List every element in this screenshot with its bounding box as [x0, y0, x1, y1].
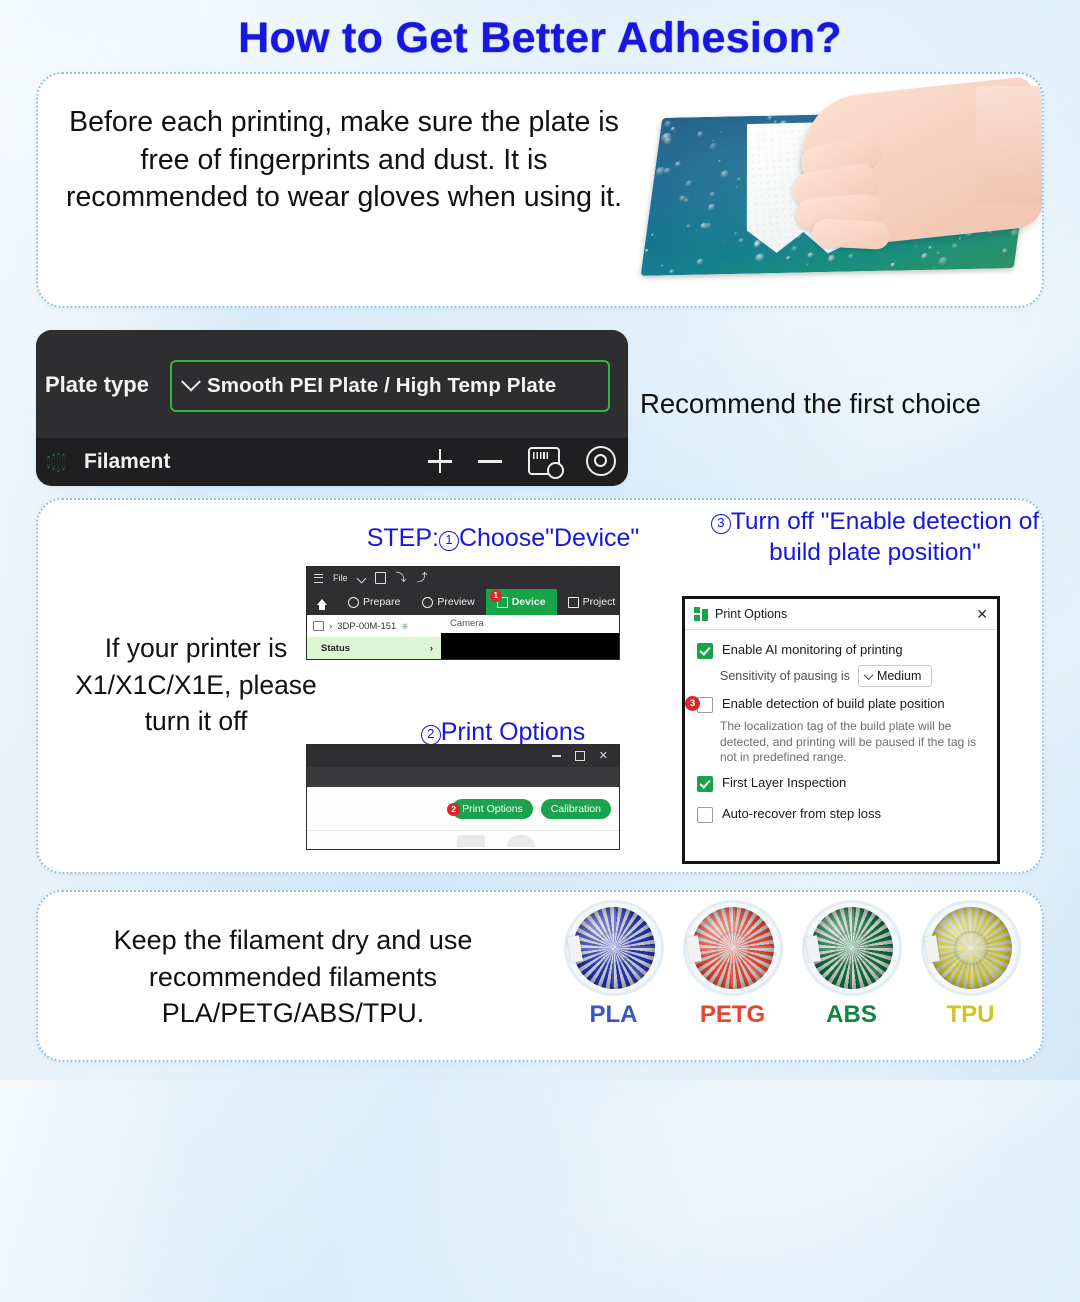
step-badge-2: 2 [447, 803, 460, 816]
printer-icon [313, 621, 324, 631]
water-droplet [774, 120, 778, 123]
panel-plate-type-ui: Plate type Smooth PEI Plate / High Temp … [36, 330, 628, 486]
water-droplet [937, 251, 941, 254]
water-droplet [720, 131, 723, 133]
option-label: Enable detection of build plate position [722, 696, 945, 712]
water-droplet [655, 167, 667, 177]
app-logo-icon [694, 607, 708, 621]
water-droplet [720, 170, 731, 179]
step2-heading: 2Print Options [338, 718, 668, 747]
step3-text: Turn off "Enable detection of build plat… [731, 508, 1039, 566]
step1-heading: STEP:1Choose"Device" [338, 524, 668, 553]
tab-prepare[interactable]: Prepare [337, 589, 411, 615]
water-droplet [754, 242, 762, 249]
preview-icon [422, 597, 433, 608]
spool-name: ABS [800, 1001, 904, 1029]
checkbox-checked-icon[interactable] [697, 776, 713, 792]
step1-text: Choose"Device" [459, 524, 639, 552]
print-options-buttons-screenshot: ✕ 2 Print Options Calibration [306, 744, 620, 850]
step2-number: 2 [421, 725, 441, 745]
plate-type-select[interactable]: Smooth PEI Plate / High Temp Plate [170, 360, 610, 412]
water-droplet [806, 263, 809, 266]
water-droplet [928, 246, 933, 250]
minimize-icon[interactable] [552, 755, 561, 756]
water-droplet [767, 116, 773, 121]
water-droplet [709, 192, 716, 198]
wifi-icon: ⎈ [401, 621, 408, 632]
water-droplet [685, 180, 694, 187]
checkbox-checked-icon[interactable] [697, 643, 713, 659]
spool-hub [597, 931, 631, 965]
plate-cleaning-photo [616, 84, 1036, 296]
filament-spool: TPU [919, 900, 1023, 1029]
water-droplet [669, 269, 676, 275]
remove-icon[interactable] [478, 449, 502, 473]
tab-project[interactable]: Project [557, 589, 620, 615]
sensitivity-value: Medium [877, 669, 921, 683]
dialog-title: Print Options [715, 607, 976, 621]
water-droplet [645, 249, 649, 252]
water-droplet [736, 177, 742, 182]
device-panel-body: › 3DP-00M-151 ⎈ Status › Camera [307, 615, 619, 659]
water-droplet [724, 241, 727, 244]
step1-prefix: STEP: [367, 524, 439, 552]
spool-name: PLA [562, 1001, 666, 1029]
step-badge-3: 3 [685, 696, 700, 711]
camera-feed [441, 633, 619, 659]
add-icon[interactable] [428, 449, 452, 473]
calibration-button[interactable]: Calibration [541, 799, 611, 819]
camera-label: Camera [441, 615, 619, 633]
water-droplet [738, 238, 745, 244]
chevron-down-icon [181, 372, 201, 392]
spool-hub [835, 931, 869, 965]
action-buttons: 2 Print Options Calibration [447, 799, 611, 819]
menu-icon[interactable] [314, 574, 323, 583]
project-icon [568, 597, 579, 608]
water-droplet [1001, 248, 1008, 254]
print-options-dialog: Print Options ✕ Enable AI monitoring of … [682, 596, 1000, 864]
chevron-right: › [329, 621, 332, 632]
option-label: Enable AI monitoring of printing [722, 642, 903, 658]
water-droplet [735, 186, 739, 189]
undo-icon[interactable]: ⤵ [396, 573, 407, 584]
sidebar-item-status[interactable]: Status › [307, 637, 441, 659]
save-icon[interactable] [375, 572, 386, 584]
water-droplet [696, 259, 705, 266]
option-auto-recover[interactable]: Auto-recover from step loss [697, 806, 987, 823]
spool-image [921, 900, 1021, 996]
home-icon [317, 599, 327, 605]
water-droplet [914, 245, 918, 248]
water-droplet [708, 204, 717, 212]
filament-actions [428, 446, 616, 476]
water-droplet [848, 254, 855, 260]
device-tab-screenshot: File ⤵ ⤴ Prepare Preview 1 Device Projec… [306, 566, 620, 660]
filament-icon [47, 452, 75, 472]
filament-label: Filament [84, 450, 170, 474]
tab-home[interactable] [307, 589, 337, 615]
print-options-button[interactable]: Print Options [452, 799, 533, 819]
file-menu-label[interactable]: File [333, 573, 348, 583]
step1-number: 1 [439, 531, 459, 551]
device-entry[interactable]: › 3DP-00M-151 ⎈ [307, 615, 441, 637]
spool-hub [954, 931, 988, 965]
filament-spool: PETG [681, 900, 785, 1029]
sensitivity-row: Sensitivity of pausing is Medium [720, 665, 987, 687]
sensitivity-label: Sensitivity of pausing is [720, 669, 850, 683]
spool-image [802, 900, 902, 996]
filament-row: Filament [36, 438, 628, 486]
water-droplet [827, 255, 836, 262]
option-description: The localization tag of the build plate … [720, 719, 987, 766]
option-ai-monitoring[interactable]: Enable AI monitoring of printing [697, 642, 987, 659]
spool-name: TPU [919, 1001, 1023, 1029]
filament-spool: PLA [562, 900, 666, 1029]
water-droplet [937, 257, 949, 267]
water-droplet [675, 161, 682, 167]
spool-hub [716, 931, 750, 965]
water-droplet [933, 266, 936, 268]
spool-name: PETG [681, 1001, 785, 1029]
chevron-down-icon[interactable] [356, 573, 366, 583]
water-droplet [651, 234, 655, 237]
water-droplet [807, 252, 814, 258]
tab-label: Preview [437, 596, 474, 608]
finger [811, 218, 890, 250]
spool-image [683, 900, 783, 996]
dialog-body: Enable AI monitoring of printing Sensiti… [685, 630, 997, 823]
panel-clean-plate: Before each printing, make sure the plat… [36, 72, 1044, 308]
water-droplet [952, 243, 960, 249]
water-droplet [708, 142, 718, 151]
content-blob [457, 835, 485, 847]
step3-heading: 3Turn off "Enable detection of build pla… [710, 506, 1040, 569]
water-droplet [696, 131, 705, 138]
wrist [976, 86, 1044, 204]
step2-text: Print Options [441, 718, 586, 746]
plate-type-row: Plate type Smooth PEI Plate / High Temp … [36, 330, 628, 438]
plate-type-label: Plate type [45, 372, 149, 398]
page-title: How to Get Better Adhesion? [0, 14, 1080, 63]
water-droplet [755, 253, 767, 263]
water-droplet [1010, 229, 1021, 238]
sensitivity-select[interactable]: Medium [858, 665, 932, 687]
chevron-right-icon: › [430, 643, 433, 654]
printer-model-note: If your printer is X1/X1C/X1E, please tu… [60, 630, 332, 740]
checkbox-unchecked-icon[interactable] [697, 807, 713, 823]
water-droplet [890, 262, 897, 268]
water-droplet [686, 224, 692, 229]
device-main: Camera [441, 615, 619, 659]
app-tabbar: Prepare Preview 1 Device Project [307, 589, 619, 615]
tab-label: Prepare [363, 596, 400, 608]
water-droplet [660, 264, 664, 267]
tab-label: Project [583, 596, 616, 608]
window-titlebar: ✕ [307, 745, 619, 767]
water-droplet [734, 232, 739, 236]
filament-advice-text: Keep the filament dry and use recommende… [58, 922, 528, 1032]
option-build-plate-detection[interactable]: 3 Enable detection of build plate positi… [697, 696, 987, 713]
option-first-layer-inspection[interactable]: First Layer Inspection [697, 775, 987, 792]
water-droplet [786, 256, 791, 260]
device-sidebar: › 3DP-00M-151 ⎈ Status › [307, 615, 441, 659]
ams-sync-icon[interactable] [528, 447, 560, 475]
step-badge-1: 1 [490, 590, 502, 602]
water-droplet [790, 246, 799, 253]
filament-spool-row: PLAPETGABSTPU [554, 900, 1030, 1052]
tab-label: Device [512, 596, 546, 608]
option-label: Auto-recover from step loss [722, 806, 881, 822]
status-label: Status [321, 643, 350, 654]
prepare-icon [348, 597, 359, 608]
spool-image [564, 900, 664, 996]
panel-filament-storage: Keep the filament dry and use recommende… [36, 890, 1044, 1062]
window-content: 2 Print Options Calibration [307, 787, 619, 847]
close-icon[interactable]: ✕ [976, 607, 988, 621]
recommend-note: Recommend the first choice [640, 388, 1040, 420]
window-subbar [307, 767, 619, 787]
maximize-icon[interactable] [575, 751, 585, 761]
clean-plate-text: Before each printing, make sure the plat… [64, 104, 624, 217]
filament-spool: ABS [800, 900, 904, 1029]
redo-icon[interactable]: ⤴ [417, 573, 428, 584]
tab-preview[interactable]: Preview [411, 589, 485, 615]
chevron-down-icon [863, 670, 873, 680]
tab-device[interactable]: 1 Device [486, 589, 557, 615]
device-id: 3DP-00M-151 [337, 621, 396, 632]
gear-icon[interactable] [586, 446, 616, 476]
dialog-titlebar: Print Options ✕ [685, 599, 997, 630]
water-droplet [958, 237, 961, 240]
option-label: First Layer Inspection [722, 775, 846, 791]
step3-number: 3 [711, 514, 731, 534]
app-menubar: File ⤵ ⤴ [307, 567, 619, 589]
water-droplet [684, 198, 690, 203]
water-droplet [718, 160, 722, 163]
plate-type-value: Smooth PEI Plate / High Temp Plate [207, 374, 556, 398]
water-droplet [921, 253, 929, 260]
close-icon[interactable]: ✕ [599, 751, 608, 762]
